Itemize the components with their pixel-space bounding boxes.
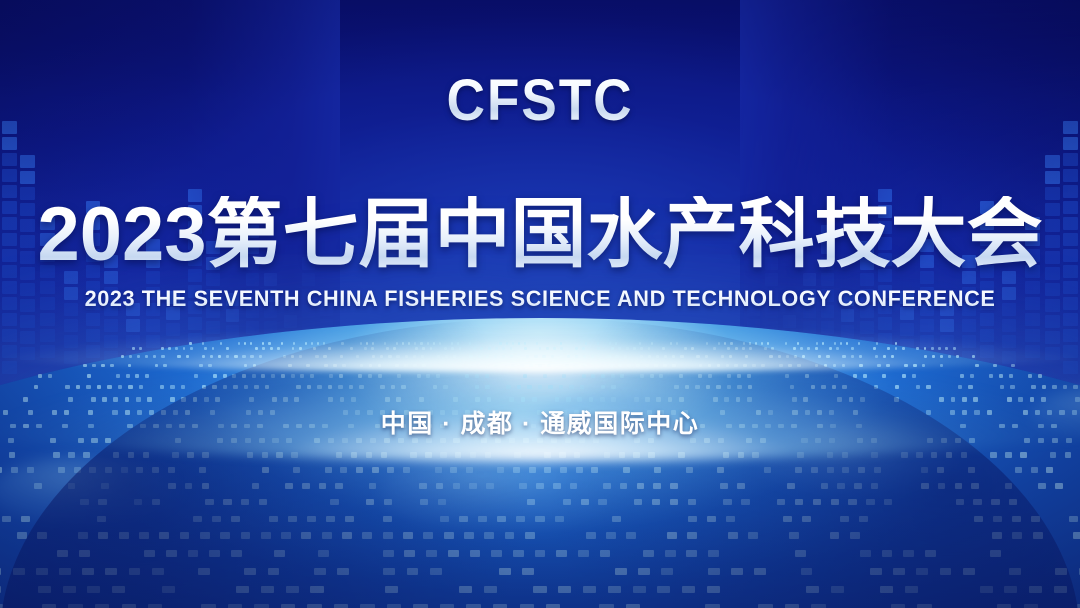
page-title: 2023第七届中国水产科技大会 — [0, 196, 1080, 274]
conference-banner: CFSTC 2023第七届中国水产科技大会 2023 THE SEVENTH C… — [0, 0, 1080, 608]
banner-content: CFSTC 2023第七届中国水产科技大会 2023 THE SEVENTH C… — [0, 0, 1080, 608]
page-subtitle: 2023 THE SEVENTH CHINA FISHERIES SCIENCE… — [19, 286, 1061, 312]
cfstc-logo: CFSTC — [43, 72, 1037, 130]
venue-text: 中国 · 成都 · 通威国际中心 — [0, 404, 1080, 440]
